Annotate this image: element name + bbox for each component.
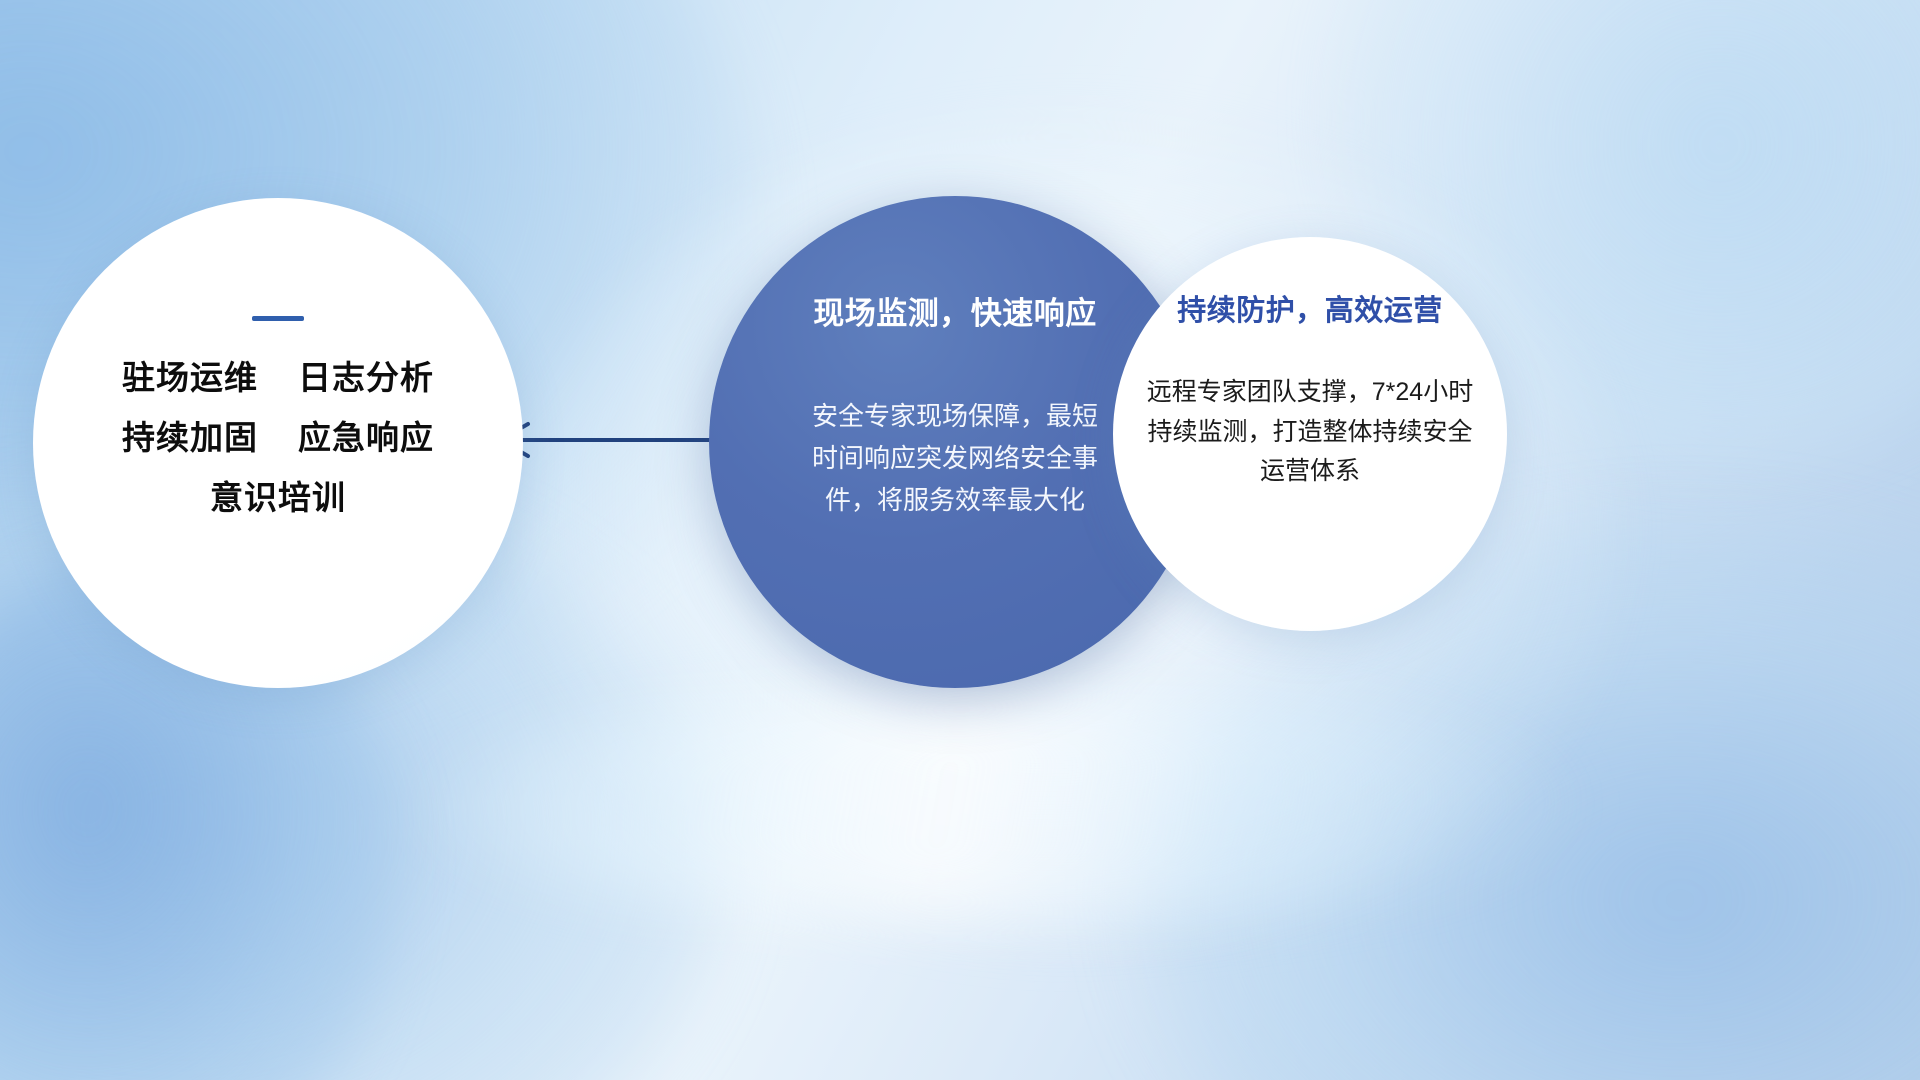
- right-card-title: 持续防护，高效运营: [1177, 287, 1443, 329]
- divider-dash-icon: [252, 316, 304, 321]
- keyword-item[interactable]: 持续加固: [122, 421, 258, 454]
- mid-card-body: 安全专家现场保障，最短时间响应突发网络安全事件，将服务效率最大化: [805, 395, 1105, 521]
- keyword-row: 意识培训: [210, 481, 346, 514]
- right-feature-circle[interactable]: 持续防护，高效运营 远程专家团队支撑，7*24小时持续监测，打造整体持续安全运营…: [1113, 237, 1507, 631]
- keyword-item[interactable]: 意识培训: [210, 481, 346, 514]
- keyword-row: 持续加固 应急响应: [122, 421, 434, 454]
- mid-card-title: 现场监测，快速响应: [813, 288, 1097, 333]
- keyword-item[interactable]: 日志分析: [298, 361, 434, 394]
- slide-canvas: 驻场运维 日志分析 持续加固 应急响应 意识培训 现场监测，快速响应 安全专家现…: [0, 0, 1920, 1080]
- keyword-row: 驻场运维 日志分析: [122, 361, 434, 394]
- keyword-item[interactable]: 驻场运维: [122, 361, 258, 394]
- left-keyword-circle[interactable]: 驻场运维 日志分析 持续加固 应急响应 意识培训: [33, 198, 523, 688]
- right-card-body: 远程专家团队支撑，7*24小时持续监测，打造整体持续安全运营体系: [1145, 373, 1475, 492]
- keyword-item[interactable]: 应急响应: [298, 421, 434, 454]
